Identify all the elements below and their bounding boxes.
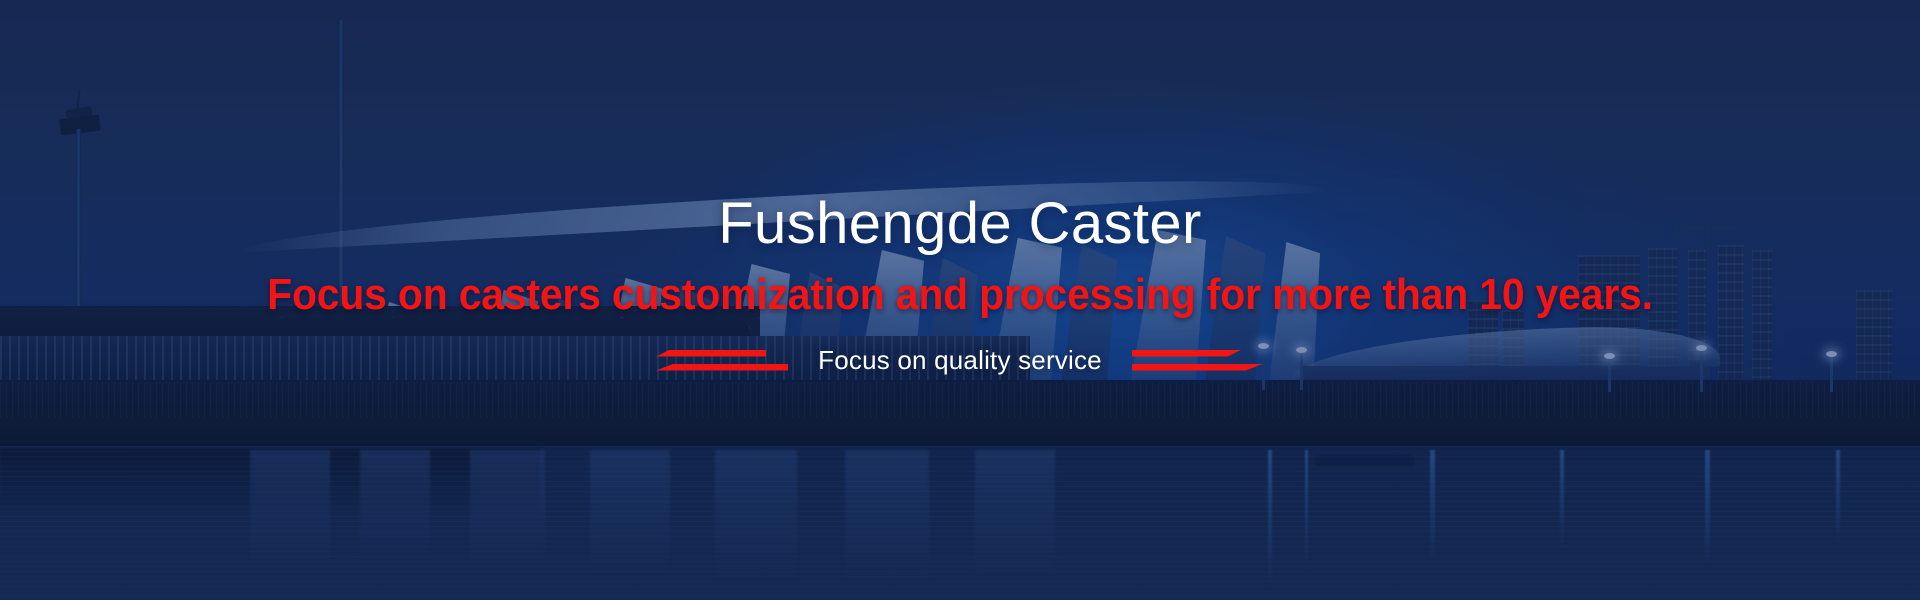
- banner-tagline-row: Focus on quality service: [656, 347, 1264, 373]
- banner-tagline: Focus on quality service: [812, 347, 1108, 373]
- accent-bar: [1132, 350, 1242, 357]
- hero-banner: Fushengde Caster Focus on casters custom…: [0, 0, 1920, 600]
- accent-bar: [656, 350, 766, 357]
- double-slanted-bar-left-icon: [656, 350, 788, 371]
- banner-headline: Fushengde Caster: [718, 195, 1202, 253]
- banner-content: Fushengde Caster Focus on casters custom…: [0, 0, 1920, 600]
- double-slanted-bar-right-icon: [1132, 350, 1264, 371]
- accent-bar: [1132, 364, 1264, 371]
- banner-subheadline: Focus on casters customization and proce…: [267, 273, 1653, 317]
- accent-bar: [656, 364, 788, 371]
